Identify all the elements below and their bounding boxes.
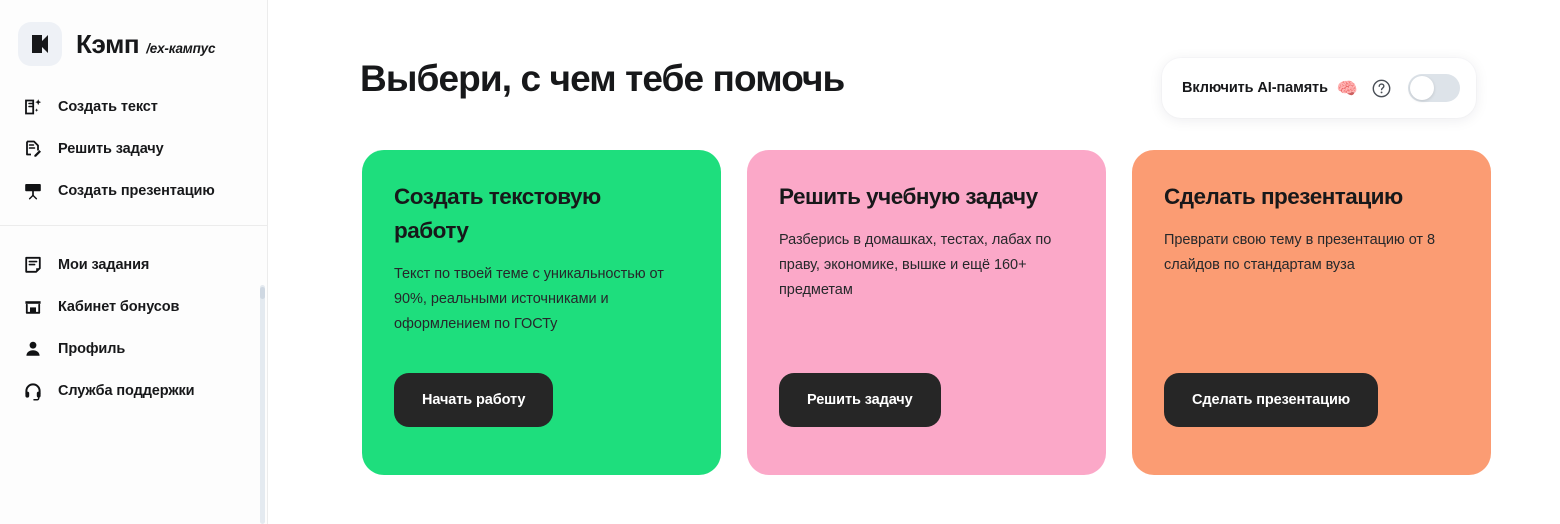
sidebar-item-label: Создать презентацию — [58, 183, 215, 199]
app-root: Кэмп /ex-кампус Создать текст — [0, 0, 1560, 524]
page-title: Выбери, с чем тебе помочь — [360, 58, 844, 100]
bonus-store-icon — [22, 296, 44, 318]
ai-memory-toggle[interactable] — [1408, 74, 1460, 102]
camp-flag-logo-icon — [18, 22, 62, 66]
card-title: Сделать презентацию — [1164, 180, 1449, 214]
sidebar-scrollbar-track[interactable] — [260, 285, 265, 524]
sidebar-primary-nav: Создать текст Решить задачу — [0, 66, 267, 212]
card-make-presentation[interactable]: Сделать презентацию Преврати свою тему в… — [1132, 150, 1491, 475]
card-description: Преврати свою тему в презентацию от 8 сл… — [1164, 228, 1454, 278]
solve-task-icon — [22, 138, 44, 160]
solve-task-button[interactable]: Решить задачу — [779, 373, 941, 427]
sidebar-item-bonus-store[interactable]: Кабинет бонусов — [0, 286, 267, 328]
sidebar-item-label: Решить задачу — [58, 141, 164, 157]
sidebar-item-profile[interactable]: Профиль — [0, 328, 267, 370]
sidebar-item-support[interactable]: Служба поддержки — [0, 370, 267, 412]
card-solve-task[interactable]: Решить учебную задачу Разберись в домашк… — [747, 150, 1106, 475]
profile-person-icon — [22, 338, 44, 360]
card-title: Решить учебную задачу — [779, 180, 1064, 214]
sidebar: Кэмп /ex-кампус Создать текст — [0, 0, 268, 524]
sidebar-scrollbar-thumb[interactable] — [260, 287, 265, 299]
create-text-icon — [22, 96, 44, 118]
ai-memory-panel: Включить AI-память 🧠 — [1162, 58, 1476, 118]
sidebar-item-label: Мои задания — [58, 257, 149, 273]
presentation-icon — [22, 180, 44, 202]
card-description: Текст по твоей теме с уникальностью от 9… — [394, 262, 684, 337]
card-title: Создать текстовую работу — [394, 180, 679, 248]
sidebar-item-solve-task[interactable]: Решить задачу — [0, 128, 267, 170]
sidebar-secondary-nav: Мои задания Кабинет бонусов — [0, 226, 267, 412]
brand-name: Кэмп — [76, 29, 139, 60]
action-cards: Создать текстовую работу Текст по твоей … — [362, 150, 1491, 475]
sidebar-item-create-text[interactable]: Создать текст — [0, 86, 267, 128]
brand-subtitle: /ex-кампус — [146, 41, 215, 56]
card-create-text[interactable]: Создать текстовую работу Текст по твоей … — [362, 150, 721, 475]
sidebar-item-create-presentation[interactable]: Создать презентацию — [0, 170, 267, 212]
my-tasks-icon — [22, 254, 44, 276]
ai-memory-label: Включить AI-память — [1182, 80, 1328, 96]
sidebar-item-label: Создать текст — [58, 99, 158, 115]
make-presentation-button[interactable]: Сделать презентацию — [1164, 373, 1378, 427]
sidebar-item-label: Профиль — [58, 341, 125, 357]
headset-support-icon — [22, 380, 44, 402]
sidebar-item-my-tasks[interactable]: Мои задания — [0, 244, 267, 286]
toggle-knob — [1410, 76, 1434, 100]
question-circle-icon[interactable] — [1371, 78, 1391, 98]
sidebar-item-label: Служба поддержки — [58, 383, 194, 399]
brand-logo[interactable]: Кэмп /ex-кампус — [0, 0, 267, 66]
brain-icon: 🧠 — [1337, 80, 1358, 97]
main-content: Выбери, с чем тебе помочь Включить AI-па… — [268, 0, 1560, 524]
sidebar-item-label: Кабинет бонусов — [58, 299, 179, 315]
card-description: Разберись в домашках, тестах, лабах по п… — [779, 228, 1069, 303]
start-work-button[interactable]: Начать работу — [394, 373, 553, 427]
